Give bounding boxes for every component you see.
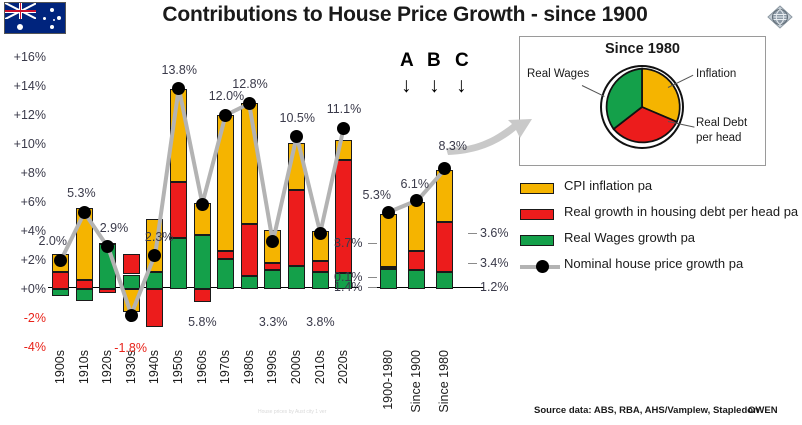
x-tick-label: 2000s [289,350,303,384]
summary-c-value-label: 3.4% [480,256,509,270]
x-tick-label: 1900s [53,350,67,384]
bar-segment-real-wages [436,272,453,289]
legend-swatch-icon [520,235,554,246]
legend-swatch-icon [520,183,554,194]
bar-segment-real-wages [76,289,93,301]
x-tick-label-summary: 1900-1980 [381,350,395,410]
legend-label: CPI inflation pa [564,178,652,193]
nominal-growth-point [78,206,91,219]
marker-arrow-b: ↓ [429,75,440,96]
nominal-growth-point [266,235,279,248]
x-tick-label: 2010s [313,350,327,384]
nominal-growth-value-label: 3.8% [306,315,335,329]
summary-nominal-growth-point [382,206,395,219]
pie-label-real-debt-l2: per head [696,132,741,145]
summary-c-tick [468,263,477,264]
bar-segment-real-debt [335,160,352,273]
y-tick-label: +16% [4,50,46,64]
bar-segment-real-debt [194,289,211,302]
x-tick-label: 1960s [195,350,209,384]
summary-a-value-label: 1.4% [334,280,363,294]
marker-label-b: B [427,50,441,72]
bar-stack [99,45,116,345]
x-tick-label-summary: Since 1980 [437,350,451,413]
source-note: Source data: ABS, RBA, AHS/Vamplew, Stap… [534,405,759,416]
summary-a-value-label: 3.7% [334,236,363,250]
chart-root: Contributions to House Price Growth - si… [0,0,802,425]
bar-segment-real-wages [194,235,211,289]
bar-segment-real-debt [217,251,234,258]
legend-item-cpi: CPI inflation pa [520,178,795,204]
plot-area: +16% +14% +12% +10% +8% +6% +4% +2% +0% … [0,45,520,345]
summary-c-tick [468,233,477,234]
pie-chart [600,65,684,149]
x-tick-label: 1910s [77,350,91,384]
marker-arrow-c: ↓ [456,75,467,96]
nominal-growth-point [125,309,138,322]
y-tick-label: -4% [4,340,46,354]
y-tick-label: -2% [4,311,46,325]
pie-label-inflation: Inflation [696,68,736,81]
bar-segment-real-wages [288,266,305,289]
bar-segment-real-debt [146,289,163,327]
nominal-growth-value-label: 5.8% [188,315,217,329]
nominal-growth-point [314,227,327,240]
author-note: OWEN [748,405,778,416]
legend-label: Real growth in housing debt per head pa [564,204,798,219]
y-axis: +16% +14% +12% +10% +8% +6% +4% +2% +0% … [0,45,46,345]
bar-segment-real-debt [76,280,93,289]
x-tick-label: 2020s [336,350,350,384]
pie-label-real-wages: Real Wages [527,68,589,81]
legend-item-nominal: Nominal house price growth pa [520,256,795,282]
australia-flag-icon [4,2,66,34]
y-tick-label: +8% [4,166,46,180]
pie-label-real-debt-l1: Real Debt [696,117,747,130]
legend-dot-icon [536,260,549,273]
bar-segment-cpi [380,214,397,268]
marker-arrow-a: ↓ [401,75,412,96]
bar-segment-real-debt [264,263,281,270]
x-tick-label: 1920s [100,350,114,384]
marker-label-c: C [455,50,469,72]
nominal-growth-value-label: 13.8% [162,63,197,77]
nominal-growth-value-label: 12.8% [232,77,267,91]
nominal-growth-value-label: 3.3% [259,315,288,329]
bar-stack [288,45,305,345]
nominal-growth-point [337,122,350,135]
y-tick-label: +14% [4,79,46,93]
pie-leader-wages [582,85,605,97]
x-tick-label: 1990s [265,350,279,384]
y-tick-label: +12% [4,108,46,122]
y-tick-label: +6% [4,195,46,209]
inset-panel: Since 1980 Real Wages Inflation Real Deb… [519,36,766,166]
bar-segment-real-debt [241,224,258,276]
bar-segment-real-debt [312,261,329,271]
bar-segment-real-wages [241,276,258,289]
bar-segment-real-debt [52,272,69,289]
bar-segment-real-debt [436,222,453,271]
summary-c-value-label: 1.2% [480,280,509,294]
x-tick-label: 1980s [242,350,256,384]
summary-c-value-label: 3.6% [480,226,509,240]
nominal-growth-value-label: 11.1% [327,102,362,116]
x-tick-label: 1950s [171,350,185,384]
bar-segment-real-wages [217,259,234,289]
union-jack [5,3,36,19]
bar-segment-real-debt [99,289,116,293]
y-tick-label: +2% [4,253,46,267]
nominal-growth-value-label: -1.8% [114,341,147,355]
nominal-growth-point [196,198,209,211]
bar-stack [335,45,352,345]
bar-segment-real-wages [380,269,397,289]
bar-segment-real-wages [123,275,140,290]
y-tick-label: +0% [4,282,46,296]
summary-a-tick [368,277,377,278]
legend-item-debt: Real growth in housing debt per head pa [520,204,795,230]
summary-nominal-growth-value-label: 5.3% [363,188,392,202]
bar-segment-real-wages [264,270,281,289]
summary-a-tick [368,243,377,244]
bar-segment-real-debt [123,254,140,274]
marker-label-a: A [400,50,414,72]
bar-segment-real-debt [288,190,305,265]
bar-segment-real-wages [408,270,425,289]
summary-a-tick [368,287,377,288]
bar-segment-real-debt [408,251,425,270]
bar-segment-real-wages [170,238,187,289]
bar-segment-real-debt [380,267,397,269]
legend-swatch-icon [520,209,554,220]
nominal-growth-value-label: 5.3% [67,186,96,200]
legend-item-wages: Real Wages growth pa [520,230,795,256]
legend-label: Nominal house price growth pa [564,256,743,271]
legend-label: Real Wages growth pa [564,230,695,245]
x-tick-label: 1970s [218,350,232,384]
summary-nominal-growth-point [410,194,423,207]
nominal-growth-value-label: 10.5% [280,111,315,125]
nominal-growth-point [219,109,232,122]
nominal-growth-value-label: 2.9% [100,221,129,235]
bar-segment-cpi [408,202,425,251]
bar-segment-real-wages [312,272,329,289]
nominal-growth-value-label: 2.3% [145,230,174,244]
summary-nominal-growth-value-label: 6.1% [401,177,430,191]
inset-title: Since 1980 [520,41,765,57]
summary-nominal-growth-value-label: 8.3% [439,139,468,153]
x-tick-label: 1930s [124,350,138,384]
x-tick-label-summary: Since 1900 [409,350,423,413]
bar-segment-real-wages [52,289,69,296]
x-tick-label: 1940s [147,350,161,384]
nominal-growth-point [243,97,256,110]
micro-footnote: House prices by Aust city 1 ver [258,409,326,415]
nominal-growth-value-label: 2.0% [39,234,68,248]
page-title: Contributions to House Price Growth - si… [90,3,720,27]
y-tick-label: +10% [4,137,46,151]
brand-logo-icon [764,4,796,30]
legend: CPI inflation pa Real growth in housing … [520,178,795,282]
nominal-growth-point [54,254,67,267]
